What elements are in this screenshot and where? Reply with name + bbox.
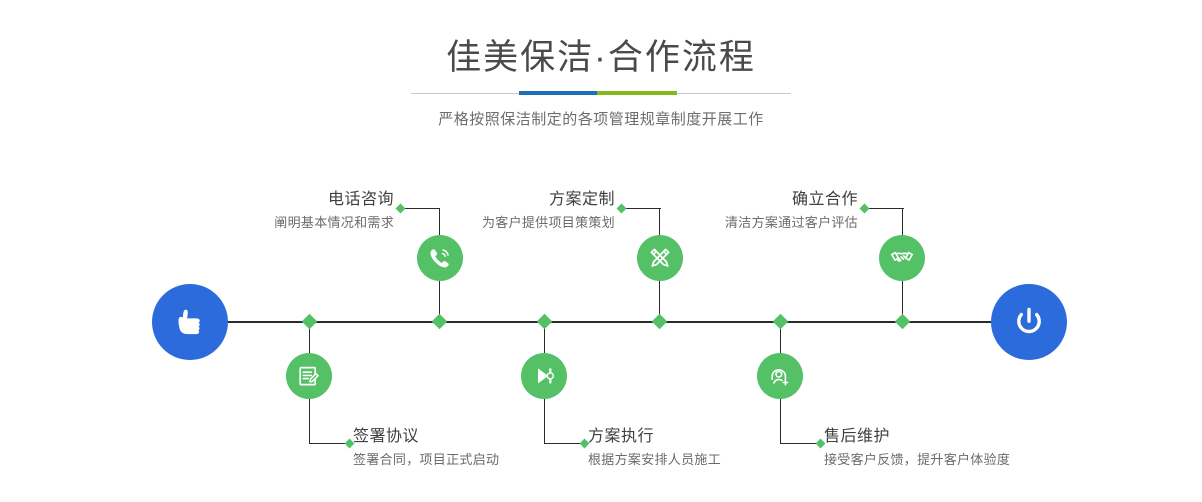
step-label-2: 签署协议 签署合同，项目正式启动 xyxy=(353,425,573,470)
headset-support-icon xyxy=(767,363,793,389)
play-execute-icon xyxy=(531,363,557,389)
step-desc-5: 清洁方案通过客户评估 xyxy=(678,213,858,233)
connector-horizontal-6 xyxy=(780,443,820,444)
step-icon-3 xyxy=(637,235,683,281)
connector-dot-1 xyxy=(396,204,406,214)
divider-green-segment xyxy=(597,91,677,95)
cooperation-process-infographic: 佳美保洁·合作流程 严格按照保洁制定的各项管理规章制度开展工作 xyxy=(0,0,1202,502)
timeline-node-3 xyxy=(652,314,668,330)
timeline-node-5 xyxy=(895,314,911,330)
pointing-hand-icon xyxy=(170,302,210,342)
connector-horizontal-5 xyxy=(864,208,904,209)
timeline-node-6 xyxy=(773,314,789,330)
title-divider xyxy=(411,86,791,102)
timeline-node-1 xyxy=(432,314,448,330)
timeline-start-node xyxy=(152,284,228,360)
timeline-node-2 xyxy=(302,314,318,330)
step-icon-2 xyxy=(286,353,332,399)
timeline-end-node xyxy=(991,284,1067,360)
step-desc-4: 根据方案安排人员施工 xyxy=(588,450,808,470)
step-label-4: 方案执行 根据方案安排人员施工 xyxy=(588,425,808,470)
step-title-5: 确立合作 xyxy=(678,188,858,213)
step-icon-5 xyxy=(879,235,925,281)
pencil-ruler-icon xyxy=(647,245,673,271)
step-label-3: 方案定制 为客户提供项目策策划 xyxy=(435,188,615,233)
step-title-2: 签署协议 xyxy=(353,425,573,450)
handshake-icon xyxy=(889,245,915,271)
header: 佳美保洁·合作流程 严格按照保洁制定的各项管理规章制度开展工作 xyxy=(0,0,1202,129)
step-desc-3: 为客户提供项目策策划 xyxy=(435,213,615,233)
step-desc-1: 阐明基本情况和需求 xyxy=(214,213,394,233)
connector-horizontal-3 xyxy=(621,208,661,209)
step-icon-4 xyxy=(521,353,567,399)
connector-horizontal-4 xyxy=(544,443,584,444)
power-icon xyxy=(1009,302,1049,342)
step-desc-6: 接受客户反馈，提升客户体验度 xyxy=(824,450,1084,470)
document-sign-icon xyxy=(296,363,322,389)
step-label-1: 电话咨询 阐明基本情况和需求 xyxy=(214,188,394,233)
page-title: 佳美保洁·合作流程 xyxy=(0,0,1202,80)
divider-blue-segment xyxy=(519,91,597,95)
connector-horizontal-1 xyxy=(400,208,440,209)
page-subtitle: 严格按照保洁制定的各项管理规章制度开展工作 xyxy=(0,102,1202,129)
process-timeline: 电话咨询 阐明基本情况和需求 签署协议 签署合同，项目正式启动 xyxy=(0,150,1202,502)
timeline-node-4 xyxy=(537,314,553,330)
step-icon-6 xyxy=(757,353,803,399)
connector-dot-3 xyxy=(617,204,627,214)
step-icon-1 xyxy=(417,235,463,281)
connector-horizontal-2 xyxy=(309,443,349,444)
step-desc-2: 签署合同，项目正式启动 xyxy=(353,450,573,470)
connector-dot-5 xyxy=(860,204,870,214)
step-title-6: 售后维护 xyxy=(824,425,1084,450)
step-title-3: 方案定制 xyxy=(435,188,615,213)
phone-call-icon xyxy=(427,245,453,271)
step-title-1: 电话咨询 xyxy=(214,188,394,213)
step-title-4: 方案执行 xyxy=(588,425,808,450)
step-label-6: 售后维护 接受客户反馈，提升客户体验度 xyxy=(824,425,1084,470)
step-label-5: 确立合作 清洁方案通过客户评估 xyxy=(678,188,858,233)
